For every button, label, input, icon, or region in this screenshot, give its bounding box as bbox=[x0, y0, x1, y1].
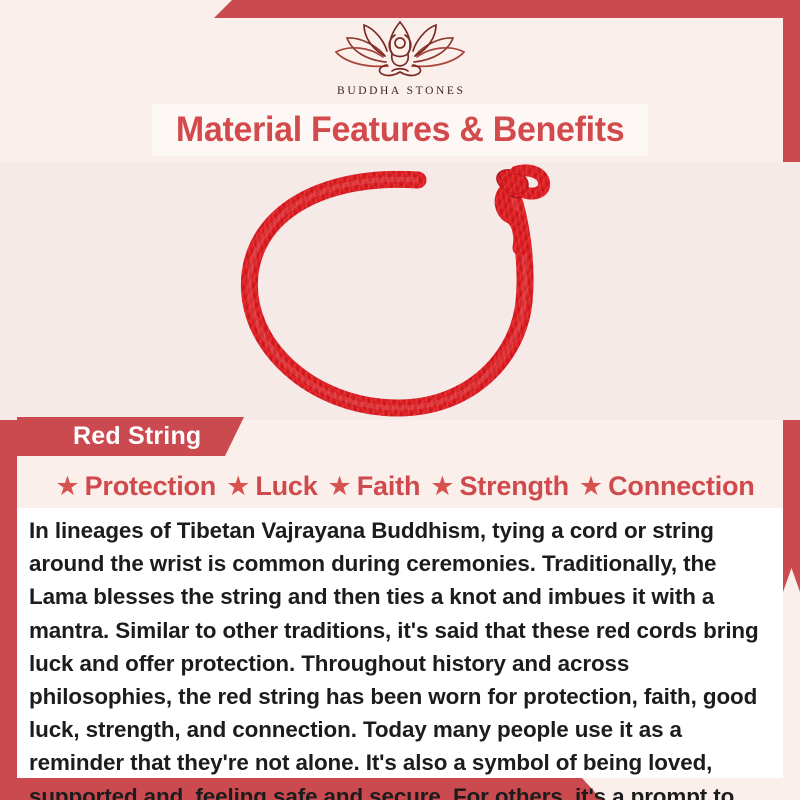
benefit-label: Strength bbox=[459, 471, 568, 502]
lotus-meditation-icon bbox=[0, 16, 800, 83]
brand-wordmark: BUDDHA STONES bbox=[0, 85, 800, 97]
benefit-label: Connection bbox=[608, 471, 755, 502]
benefit-item: ★ Faith bbox=[318, 471, 421, 502]
description-text: In lineages of Tibetan Vajrayana Buddhis… bbox=[29, 514, 765, 800]
benefit-item: ★ Protection bbox=[45, 471, 216, 502]
benefit-item: ★ Strength bbox=[420, 471, 569, 502]
benefit-label: Faith bbox=[357, 471, 421, 502]
infographic-card: BUDDHA STONES Material Features & Benefi… bbox=[0, 0, 800, 800]
star-icon: ★ bbox=[579, 473, 603, 500]
page-title: Material Features & Benefits bbox=[176, 110, 624, 150]
benefit-item: ★ Connection bbox=[569, 471, 755, 502]
star-icon: ★ bbox=[430, 473, 454, 500]
description-panel: In lineages of Tibetan Vajrayana Buddhis… bbox=[17, 508, 783, 778]
product-image-area bbox=[0, 162, 800, 420]
red-braided-string-bracelet-image bbox=[0, 162, 800, 420]
page-title-band: Material Features & Benefits bbox=[152, 104, 648, 156]
star-icon: ★ bbox=[226, 473, 250, 500]
benefit-item: ★ Luck bbox=[216, 471, 317, 502]
benefit-label: Protection bbox=[85, 471, 217, 502]
material-name-banner: Red String bbox=[17, 417, 244, 456]
benefit-label: Luck bbox=[255, 471, 317, 502]
star-icon: ★ bbox=[55, 473, 79, 500]
brand-logo: BUDDHA STONES bbox=[0, 16, 800, 97]
material-name: Red String bbox=[73, 422, 201, 451]
benefits-list: ★ Protection ★ Luck ★ Faith ★ Strength ★… bbox=[17, 464, 783, 508]
star-icon: ★ bbox=[328, 473, 352, 500]
